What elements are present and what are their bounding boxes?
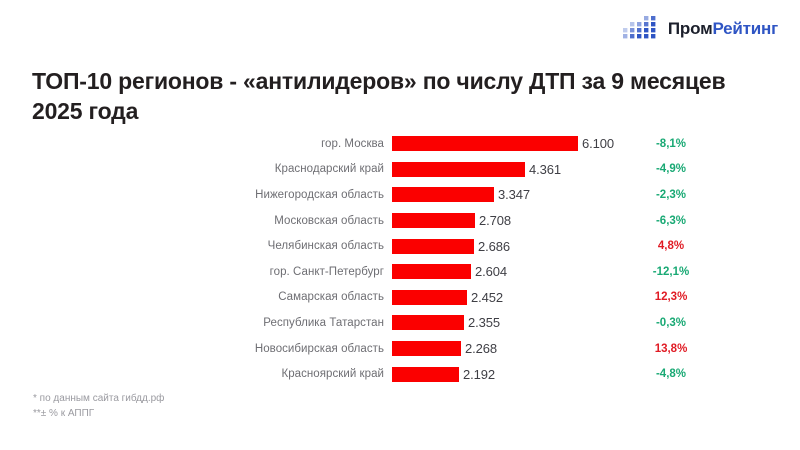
region-label: Самарская область bbox=[0, 291, 392, 303]
bar-zone: 3.347 bbox=[392, 182, 632, 208]
delta-percent: -4,9% bbox=[632, 163, 710, 175]
bar bbox=[392, 213, 475, 228]
bar-zone: 2.452 bbox=[392, 285, 632, 311]
region-label: Новосибирская область bbox=[0, 343, 392, 355]
bar bbox=[392, 315, 464, 330]
delta-percent: -4,8% bbox=[632, 368, 710, 380]
bar bbox=[392, 162, 525, 177]
brand-name-prefix: Пром bbox=[668, 19, 713, 38]
region-label: Красноярский край bbox=[0, 368, 392, 380]
delta-percent: -2,3% bbox=[632, 189, 710, 201]
bar-value-label: 2.708 bbox=[479, 213, 511, 228]
delta-percent: 12,3% bbox=[632, 291, 710, 303]
chart-row: Челябинская область2.6864,8% bbox=[0, 233, 800, 259]
bar-zone: 2.268 bbox=[392, 336, 632, 362]
delta-percent: -6,3% bbox=[632, 215, 710, 227]
bar-zone: 2.604 bbox=[392, 259, 632, 285]
bar-zone: 2.192 bbox=[392, 361, 632, 387]
delta-percent: -8,1% bbox=[632, 138, 710, 150]
bar bbox=[392, 239, 474, 254]
bar bbox=[392, 341, 461, 356]
infographic-page: { "brand": { "logo_icon": "dot-matrix-ch… bbox=[0, 0, 800, 450]
bar bbox=[392, 187, 494, 202]
bar-value-label: 2.452 bbox=[471, 290, 503, 305]
chart-row: Самарская область2.45212,3% bbox=[0, 285, 800, 311]
chart-row: Московская область2.708-6,3% bbox=[0, 208, 800, 234]
bar-zone: 2.686 bbox=[392, 233, 632, 259]
delta-percent: -12,1% bbox=[632, 266, 710, 278]
region-label: Нижегородская область bbox=[0, 189, 392, 201]
dot-matrix-chart-icon bbox=[623, 13, 659, 43]
bar-zone: 4.361 bbox=[392, 157, 632, 183]
page-title: ТОП-10 регионов - «антилидеров» по числу… bbox=[32, 67, 772, 127]
delta-percent: 13,8% bbox=[632, 343, 710, 355]
region-label: Московская область bbox=[0, 215, 392, 227]
delta-percent: -0,3% bbox=[632, 317, 710, 329]
brand-logo[interactable]: ПромРейтинг bbox=[623, 13, 778, 43]
region-label: гор. Москва bbox=[0, 138, 392, 150]
region-label: Республика Татарстан bbox=[0, 317, 392, 329]
bar-value-label: 2.686 bbox=[478, 239, 510, 254]
bar bbox=[392, 136, 578, 151]
bar-zone: 2.708 bbox=[392, 208, 632, 234]
bar-value-label: 2.604 bbox=[475, 264, 507, 279]
chart-row: Краснодарский край4.361-4,9% bbox=[0, 157, 800, 183]
chart-row: Красноярский край2.192-4,8% bbox=[0, 361, 800, 387]
bar bbox=[392, 264, 471, 279]
bar-chart: гор. Москва6.100-8,1%Краснодарский край4… bbox=[0, 131, 800, 387]
footnotes: * по данным сайта гибдд.рф **± % к АППГ bbox=[33, 392, 164, 421]
brand-name-suffix: Рейтинг bbox=[712, 19, 778, 38]
bar bbox=[392, 290, 467, 305]
bar-value-label: 4.361 bbox=[529, 162, 561, 177]
bar-value-label: 2.192 bbox=[463, 367, 495, 382]
region-label: Краснодарский край bbox=[0, 163, 392, 175]
footnote-source: * по данным сайта гибдд.рф bbox=[33, 392, 164, 407]
chart-row: Республика Татарстан2.355-0,3% bbox=[0, 310, 800, 336]
bar-value-label: 2.355 bbox=[468, 315, 500, 330]
chart-row: гор. Санкт-Петербург2.604-12,1% bbox=[0, 259, 800, 285]
chart-row: Новосибирская область2.26813,8% bbox=[0, 336, 800, 362]
bar-value-label: 2.268 bbox=[465, 341, 497, 356]
region-label: гор. Санкт-Петербург bbox=[0, 266, 392, 278]
bar-value-label: 3.347 bbox=[498, 187, 530, 202]
bar-zone: 6.100 bbox=[392, 131, 632, 157]
delta-percent: 4,8% bbox=[632, 240, 710, 252]
footnote-delta-legend: **± % к АППГ bbox=[33, 407, 164, 422]
chart-row: гор. Москва6.100-8,1% bbox=[0, 131, 800, 157]
bar-value-label: 6.100 bbox=[582, 136, 614, 151]
brand-name: ПромРейтинг bbox=[668, 20, 778, 37]
bar-zone: 2.355 bbox=[392, 310, 632, 336]
region-label: Челябинская область bbox=[0, 240, 392, 252]
chart-row: Нижегородская область3.347-2,3% bbox=[0, 182, 800, 208]
bar bbox=[392, 367, 459, 382]
